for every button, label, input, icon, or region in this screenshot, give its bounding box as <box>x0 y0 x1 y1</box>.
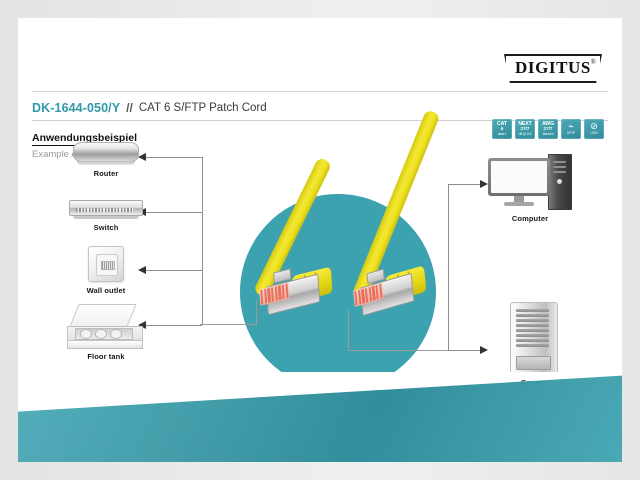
cable-icon: ⌁ <box>568 122 573 131</box>
product-sku: DK-1644-050/Y <box>32 101 120 115</box>
switch-icon <box>69 200 143 219</box>
leader-line-right-vertical <box>348 310 349 350</box>
badge-line3: S/FTP <box>567 132 575 135</box>
left-connector-bus <box>202 157 203 325</box>
next-badge: NEXT 27/7 dB @ 100 <box>515 119 535 139</box>
digitus-logo: DIGITUS ® <box>504 54 602 83</box>
product-title-row: DK-1644-050/Y // CAT 6 S/FTP Patch Cord <box>32 98 267 118</box>
registered-trademark-icon: ® <box>591 58 596 66</box>
page-background: DIGITUS ® DK-1644-050/Y // CAT 6 S/FTP P… <box>0 0 640 480</box>
arrowhead-server <box>480 346 488 354</box>
badge-line3: class e <box>498 133 507 136</box>
floor-tank-icon <box>67 304 145 348</box>
cat6-badge: CAT 6 class e <box>492 119 512 139</box>
datasheet-card: DIGITUS ® DK-1644-050/Y // CAT 6 S/FTP P… <box>18 18 622 462</box>
patch-cord-illustration <box>240 168 480 398</box>
badge-line3: stranded <box>543 133 554 136</box>
header-divider <box>32 91 608 92</box>
leader-line-left-horizontal <box>200 324 257 325</box>
logo-text: DIGITUS <box>515 58 591 77</box>
device-label-computer: Computer <box>484 214 576 223</box>
device-computer: Computer <box>484 154 576 223</box>
awg-badge: AWG 27/7 stranded <box>538 119 558 139</box>
device-label-switch: Switch <box>62 223 150 232</box>
device-label-wall-outlet: Wall outlet <box>70 286 142 295</box>
arrow-line-computer <box>448 184 480 185</box>
badge-line3: dB @ 100 <box>519 133 532 136</box>
arrow-line-floor-tank <box>146 325 202 326</box>
right-connector-bus <box>448 184 449 351</box>
arrow-line-server <box>448 350 480 351</box>
title-separator: // <box>126 101 133 115</box>
arrow-line-wall-outlet <box>146 270 202 271</box>
badge-line3: LSZH <box>590 132 597 135</box>
device-floor-tank: Floor tank <box>58 304 154 361</box>
cable-badge: ⌁ S/FTP <box>561 119 581 139</box>
wall-outlet-icon <box>88 246 124 282</box>
device-wall-outlet: Wall outlet <box>70 246 142 295</box>
leader-line-left-vertical <box>256 300 257 324</box>
arrow-line-router <box>146 157 202 158</box>
router-icon <box>73 142 139 165</box>
leader-line-right-horizontal <box>348 350 448 351</box>
computer-icon <box>488 154 572 210</box>
no-halogen-icon: ⊘ <box>590 122 598 131</box>
arrow-line-switch <box>146 212 202 213</box>
spec-badges: CAT 6 class e NEXT 27/7 dB @ 100 AWG 27/… <box>492 119 604 139</box>
server-icon <box>510 302 556 374</box>
device-router: Router <box>66 142 146 178</box>
product-name: CAT 6 S/FTP Patch Cord <box>139 102 267 114</box>
device-switch: Switch <box>62 200 150 232</box>
device-label-floor-tank: Floor tank <box>58 352 154 361</box>
device-label-router: Router <box>66 169 146 178</box>
halogen-badge: ⊘ LSZH <box>584 119 604 139</box>
logo-frame: DIGITUS ® <box>504 54 602 83</box>
